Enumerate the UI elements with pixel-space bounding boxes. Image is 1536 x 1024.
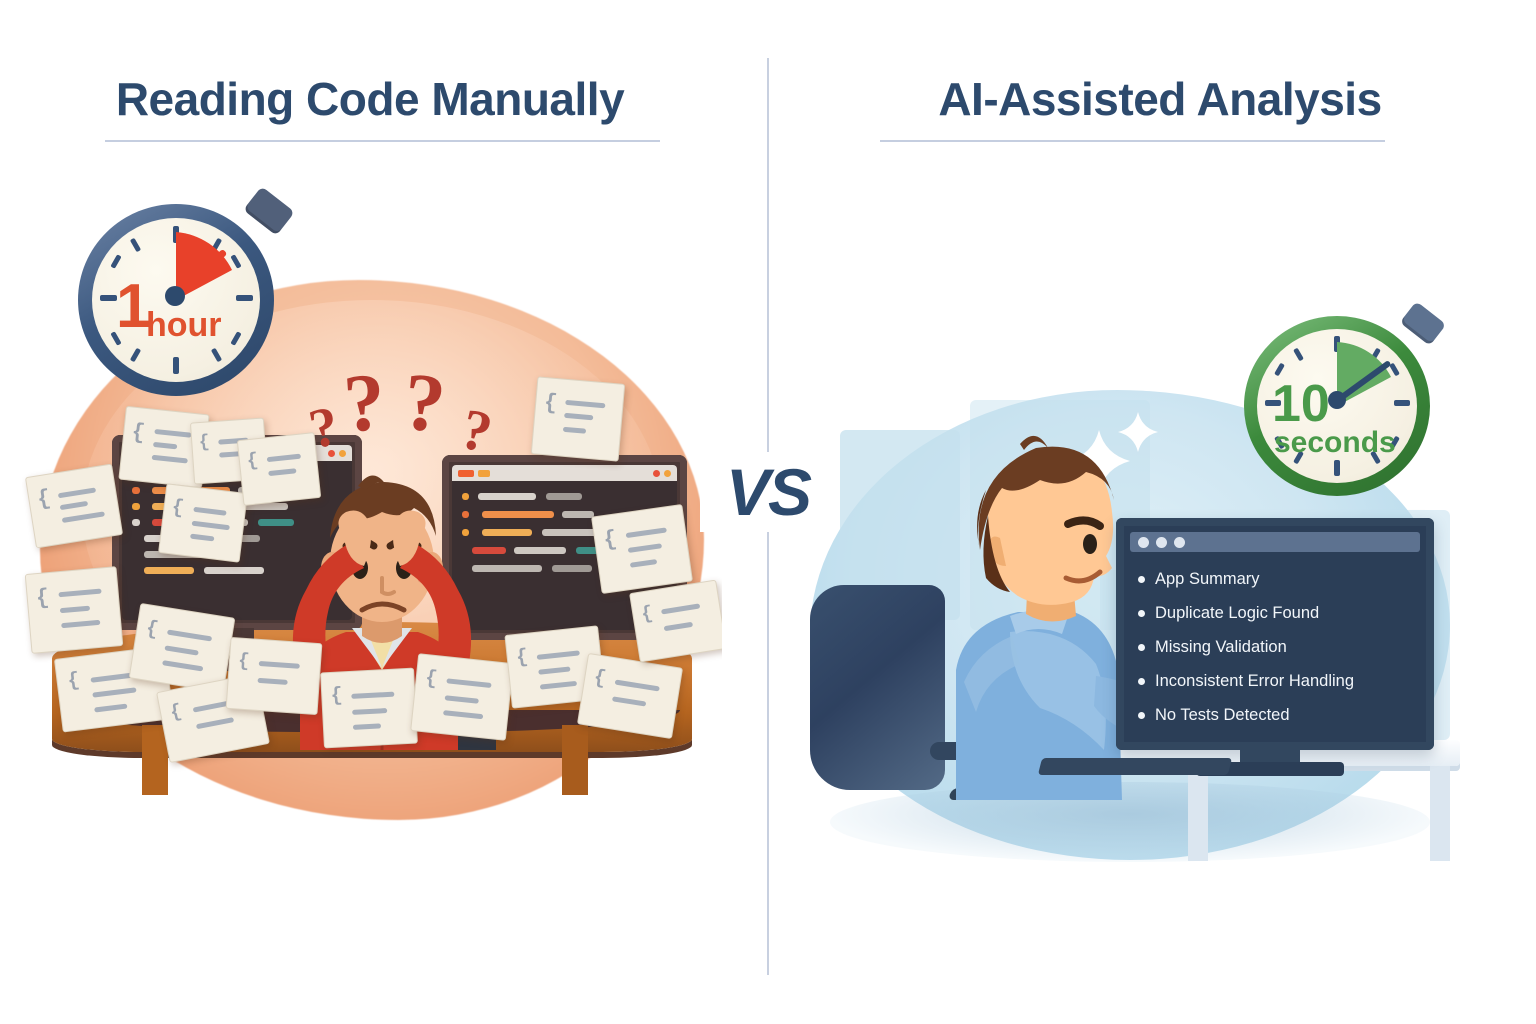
stopwatch-ten-seconds: 10 seconds — [1244, 306, 1448, 496]
list-item: Inconsistent Error Handling — [1138, 664, 1422, 698]
right-panel-title: AI-Assisted Analysis — [860, 72, 1460, 126]
window-dot-maximize[interactable] — [1174, 537, 1185, 548]
stopwatch-value-unit: hour — [146, 308, 222, 342]
ai-findings-list: App Summary Duplicate Logic Found Missin… — [1138, 562, 1422, 732]
list-item-label: Inconsistent Error Handling — [1155, 672, 1354, 691]
bullet-icon — [1138, 576, 1145, 583]
window-dot-minimize[interactable] — [1156, 537, 1167, 548]
bullet-icon — [1138, 644, 1145, 651]
code-paper: { — [25, 464, 123, 549]
stopwatch-value-unit: seconds — [1274, 428, 1396, 458]
ai-results-monitor: App Summary Duplicate Logic Found Missin… — [1116, 518, 1434, 750]
desk-leg-back — [1430, 766, 1450, 861]
stopwatch-one-hour: 1 hour — [78, 196, 294, 396]
panel-divider-top — [767, 58, 769, 458]
keyboard[interactable] — [1038, 758, 1232, 775]
stopwatch-pin — [1328, 391, 1346, 409]
bullet-icon — [1138, 678, 1145, 685]
left-panel-title: Reading Code Manually — [60, 72, 680, 126]
window-dot-close[interactable] — [1138, 537, 1149, 548]
code-paper: { — [320, 668, 418, 749]
desk-leg-right — [562, 725, 588, 795]
window-titlebar — [1130, 532, 1420, 552]
panel-divider-bottom — [767, 530, 769, 975]
list-item-label: Missing Validation — [1155, 638, 1287, 657]
stopwatch-value-big: 10 — [1272, 378, 1330, 430]
code-paper: { — [237, 432, 321, 506]
list-item: App Summary — [1138, 562, 1422, 596]
code-paper: { — [226, 637, 323, 715]
code-paper: { — [531, 376, 625, 461]
code-paper: { — [158, 483, 248, 562]
list-item-label: Duplicate Logic Found — [1155, 604, 1319, 623]
list-item-label: No Tests Detected — [1155, 706, 1290, 725]
right-title-underline — [880, 140, 1385, 142]
vs-label: VS — [700, 452, 836, 532]
list-item: Missing Validation — [1138, 630, 1422, 664]
code-paper: { — [410, 653, 514, 741]
bullet-icon — [1138, 712, 1145, 719]
stopwatch-pin — [165, 286, 185, 306]
list-item: No Tests Detected — [1138, 698, 1422, 732]
left-title-underline — [105, 140, 660, 142]
bullet-icon — [1138, 610, 1145, 617]
code-paper: { — [629, 580, 722, 663]
list-item-label: App Summary — [1155, 570, 1260, 589]
code-paper: { — [577, 653, 683, 739]
desk-leg-front — [1188, 766, 1208, 861]
infographic-canvas: Reading Code Manually AI-Assisted Analys… — [0, 0, 1536, 1024]
list-item: Duplicate Logic Found — [1138, 596, 1422, 630]
code-paper: { — [591, 504, 693, 594]
code-paper: { — [25, 566, 124, 654]
